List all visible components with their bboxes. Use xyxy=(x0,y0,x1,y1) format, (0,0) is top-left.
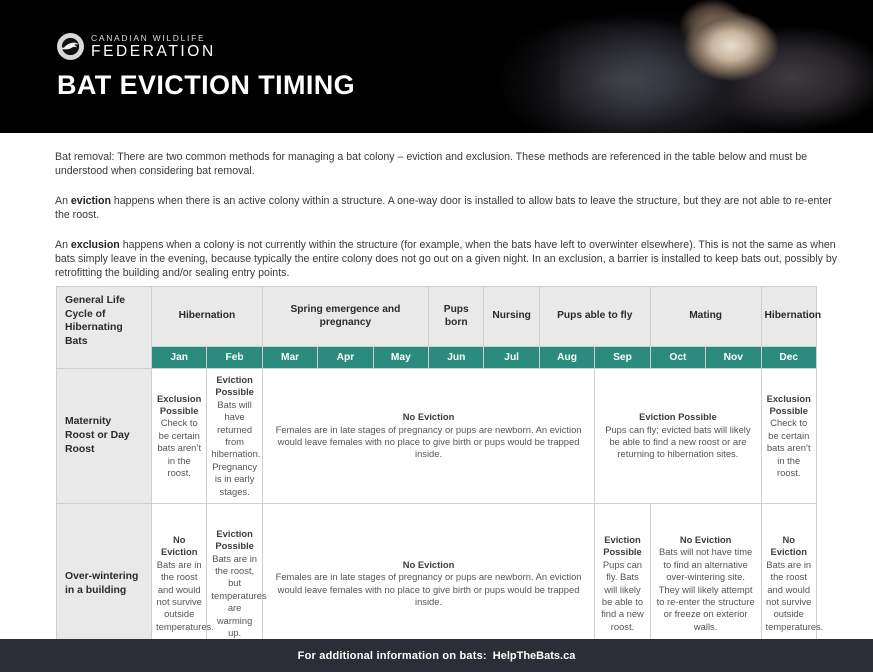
cell-body: Check to be certain bats aren’t in the r… xyxy=(766,417,812,479)
life-cycle-header-7: Hibernation xyxy=(761,287,816,347)
page-title: BAT EVICTION TIMING xyxy=(57,70,355,101)
cell-body: Check to be certain bats aren’t in the r… xyxy=(156,417,202,479)
month-header-sep: Sep xyxy=(595,347,650,369)
cell-body: Females are in late stages of pregnancy … xyxy=(267,571,590,608)
intro-text-block: Bat removal: There are two common method… xyxy=(55,150,845,297)
poster-page: CANADIAN WILDLIFE FEDERATION BAT EVICTIO… xyxy=(0,0,873,672)
month-header-mar: Mar xyxy=(262,347,317,369)
life-cycle-header-3: Pups born xyxy=(429,287,484,347)
intro-p2-keyword: eviction xyxy=(71,195,111,207)
logo-line-federation: FEDERATION xyxy=(91,44,216,60)
cell-body: Bats are in the roost and would not surv… xyxy=(766,559,812,633)
table-cell: No EvictionFemales are in late stages of… xyxy=(262,369,594,504)
intro-paragraph-1: Bat removal: There are two common method… xyxy=(55,150,845,178)
cell-title: Eviction Possible xyxy=(211,374,257,399)
month-header-row: JanFebMarAprMayJunJulAugSepOctNovDec xyxy=(57,347,817,369)
table-row: Maternity Roost or Day RoostExclusion Po… xyxy=(57,369,817,504)
table-corner-label: General Life Cycle of Hibernating Bats xyxy=(57,287,152,369)
cell-title: Exclusion Possible xyxy=(766,393,812,418)
month-header-dec: Dec xyxy=(761,347,816,369)
cell-title: Eviction Possible xyxy=(599,534,645,559)
cell-body: Pups can fly. Bats will likely be able t… xyxy=(599,559,645,633)
intro-paragraph-3: An exclusion happens when a colony is no… xyxy=(55,238,845,280)
life-cycle-header-1: Hibernation xyxy=(152,287,263,347)
footer-text: For additional information on bats: xyxy=(298,650,487,662)
intro-p3-pre: An xyxy=(55,239,71,251)
month-header-jun: Jun xyxy=(429,347,484,369)
life-cycle-header-4: Nursing xyxy=(484,287,539,347)
table-cell: Eviction PossiblePups can fly; evicted b… xyxy=(595,369,761,504)
month-header-feb: Feb xyxy=(207,347,262,369)
month-header-nov: Nov xyxy=(706,347,761,369)
intro-p2-pre: An xyxy=(55,195,71,207)
month-header-jul: Jul xyxy=(484,347,539,369)
life-cycle-header-row: General Life Cycle of Hibernating Bats H… xyxy=(57,287,817,347)
cell-title: Exclusion Possible xyxy=(156,393,202,418)
intro-p3-post: happens when a colony is not currently w… xyxy=(55,239,837,279)
page-footer: For additional information on bats: Help… xyxy=(0,639,873,672)
row-label-1: Maternity Roost or Day Roost xyxy=(57,369,152,504)
cell-body: Bats will not have time to find an alter… xyxy=(655,546,757,633)
cell-body: Pups can fly; evicted bats will likely b… xyxy=(599,424,756,461)
month-header-oct: Oct xyxy=(650,347,705,369)
intro-p2-post: happens when there is an active colony w… xyxy=(55,195,832,221)
cwf-goose-logo-icon xyxy=(57,33,84,60)
table-cell: Exclusion PossibleCheck to be certain ba… xyxy=(152,369,207,504)
table-cell: Exclusion PossibleCheck to be certain ba… xyxy=(761,369,816,504)
cell-title: Eviction Possible xyxy=(211,528,257,553)
life-cycle-header-2: Spring emergence and pregnancy xyxy=(262,287,428,347)
life-cycle-header-5: Pups able to fly xyxy=(539,287,650,347)
cell-title: Eviction Possible xyxy=(599,411,756,423)
header-gradient-overlay xyxy=(300,0,560,133)
month-header-aug: Aug xyxy=(539,347,594,369)
cell-body: Bats are in the roost, but temperatures … xyxy=(211,553,257,640)
cell-body: Bats are in the roost and would not surv… xyxy=(156,559,202,633)
month-header-jan: Jan xyxy=(152,347,207,369)
cell-body: Bats will have returned from hibernation… xyxy=(211,399,257,498)
bat-eviction-timing-table: General Life Cycle of Hibernating Bats H… xyxy=(56,286,817,664)
footer-link-helpthebats[interactable]: HelpTheBats.ca xyxy=(493,650,576,662)
life-cycle-header-6: Mating xyxy=(650,287,761,347)
intro-paragraph-2: An eviction happens when there is an act… xyxy=(55,194,845,222)
goose-glyph-icon xyxy=(61,40,80,53)
cwf-logo-text: CANADIAN WILDLIFE FEDERATION xyxy=(91,34,216,60)
cell-title: No Eviction xyxy=(766,534,812,559)
logo-line-canadian-wildlife: CANADIAN WILDLIFE xyxy=(91,34,216,43)
cell-body: Females are in late stages of pregnancy … xyxy=(267,424,590,461)
month-header-apr: Apr xyxy=(318,347,373,369)
page-header: CANADIAN WILDLIFE FEDERATION BAT EVICTIO… xyxy=(0,0,873,133)
cell-title: No Eviction xyxy=(267,411,590,423)
table-cell: Eviction PossibleBats will have returned… xyxy=(207,369,262,504)
cell-title: No Eviction xyxy=(267,559,590,571)
cell-title: No Eviction xyxy=(655,534,757,546)
month-header-may: May xyxy=(373,347,428,369)
cell-title: No Eviction xyxy=(156,534,202,559)
cwf-logo: CANADIAN WILDLIFE FEDERATION xyxy=(57,33,216,60)
intro-p3-keyword: exclusion xyxy=(71,239,120,251)
bat-eviction-timing-table-wrapper: General Life Cycle of Hibernating Bats H… xyxy=(56,286,816,664)
